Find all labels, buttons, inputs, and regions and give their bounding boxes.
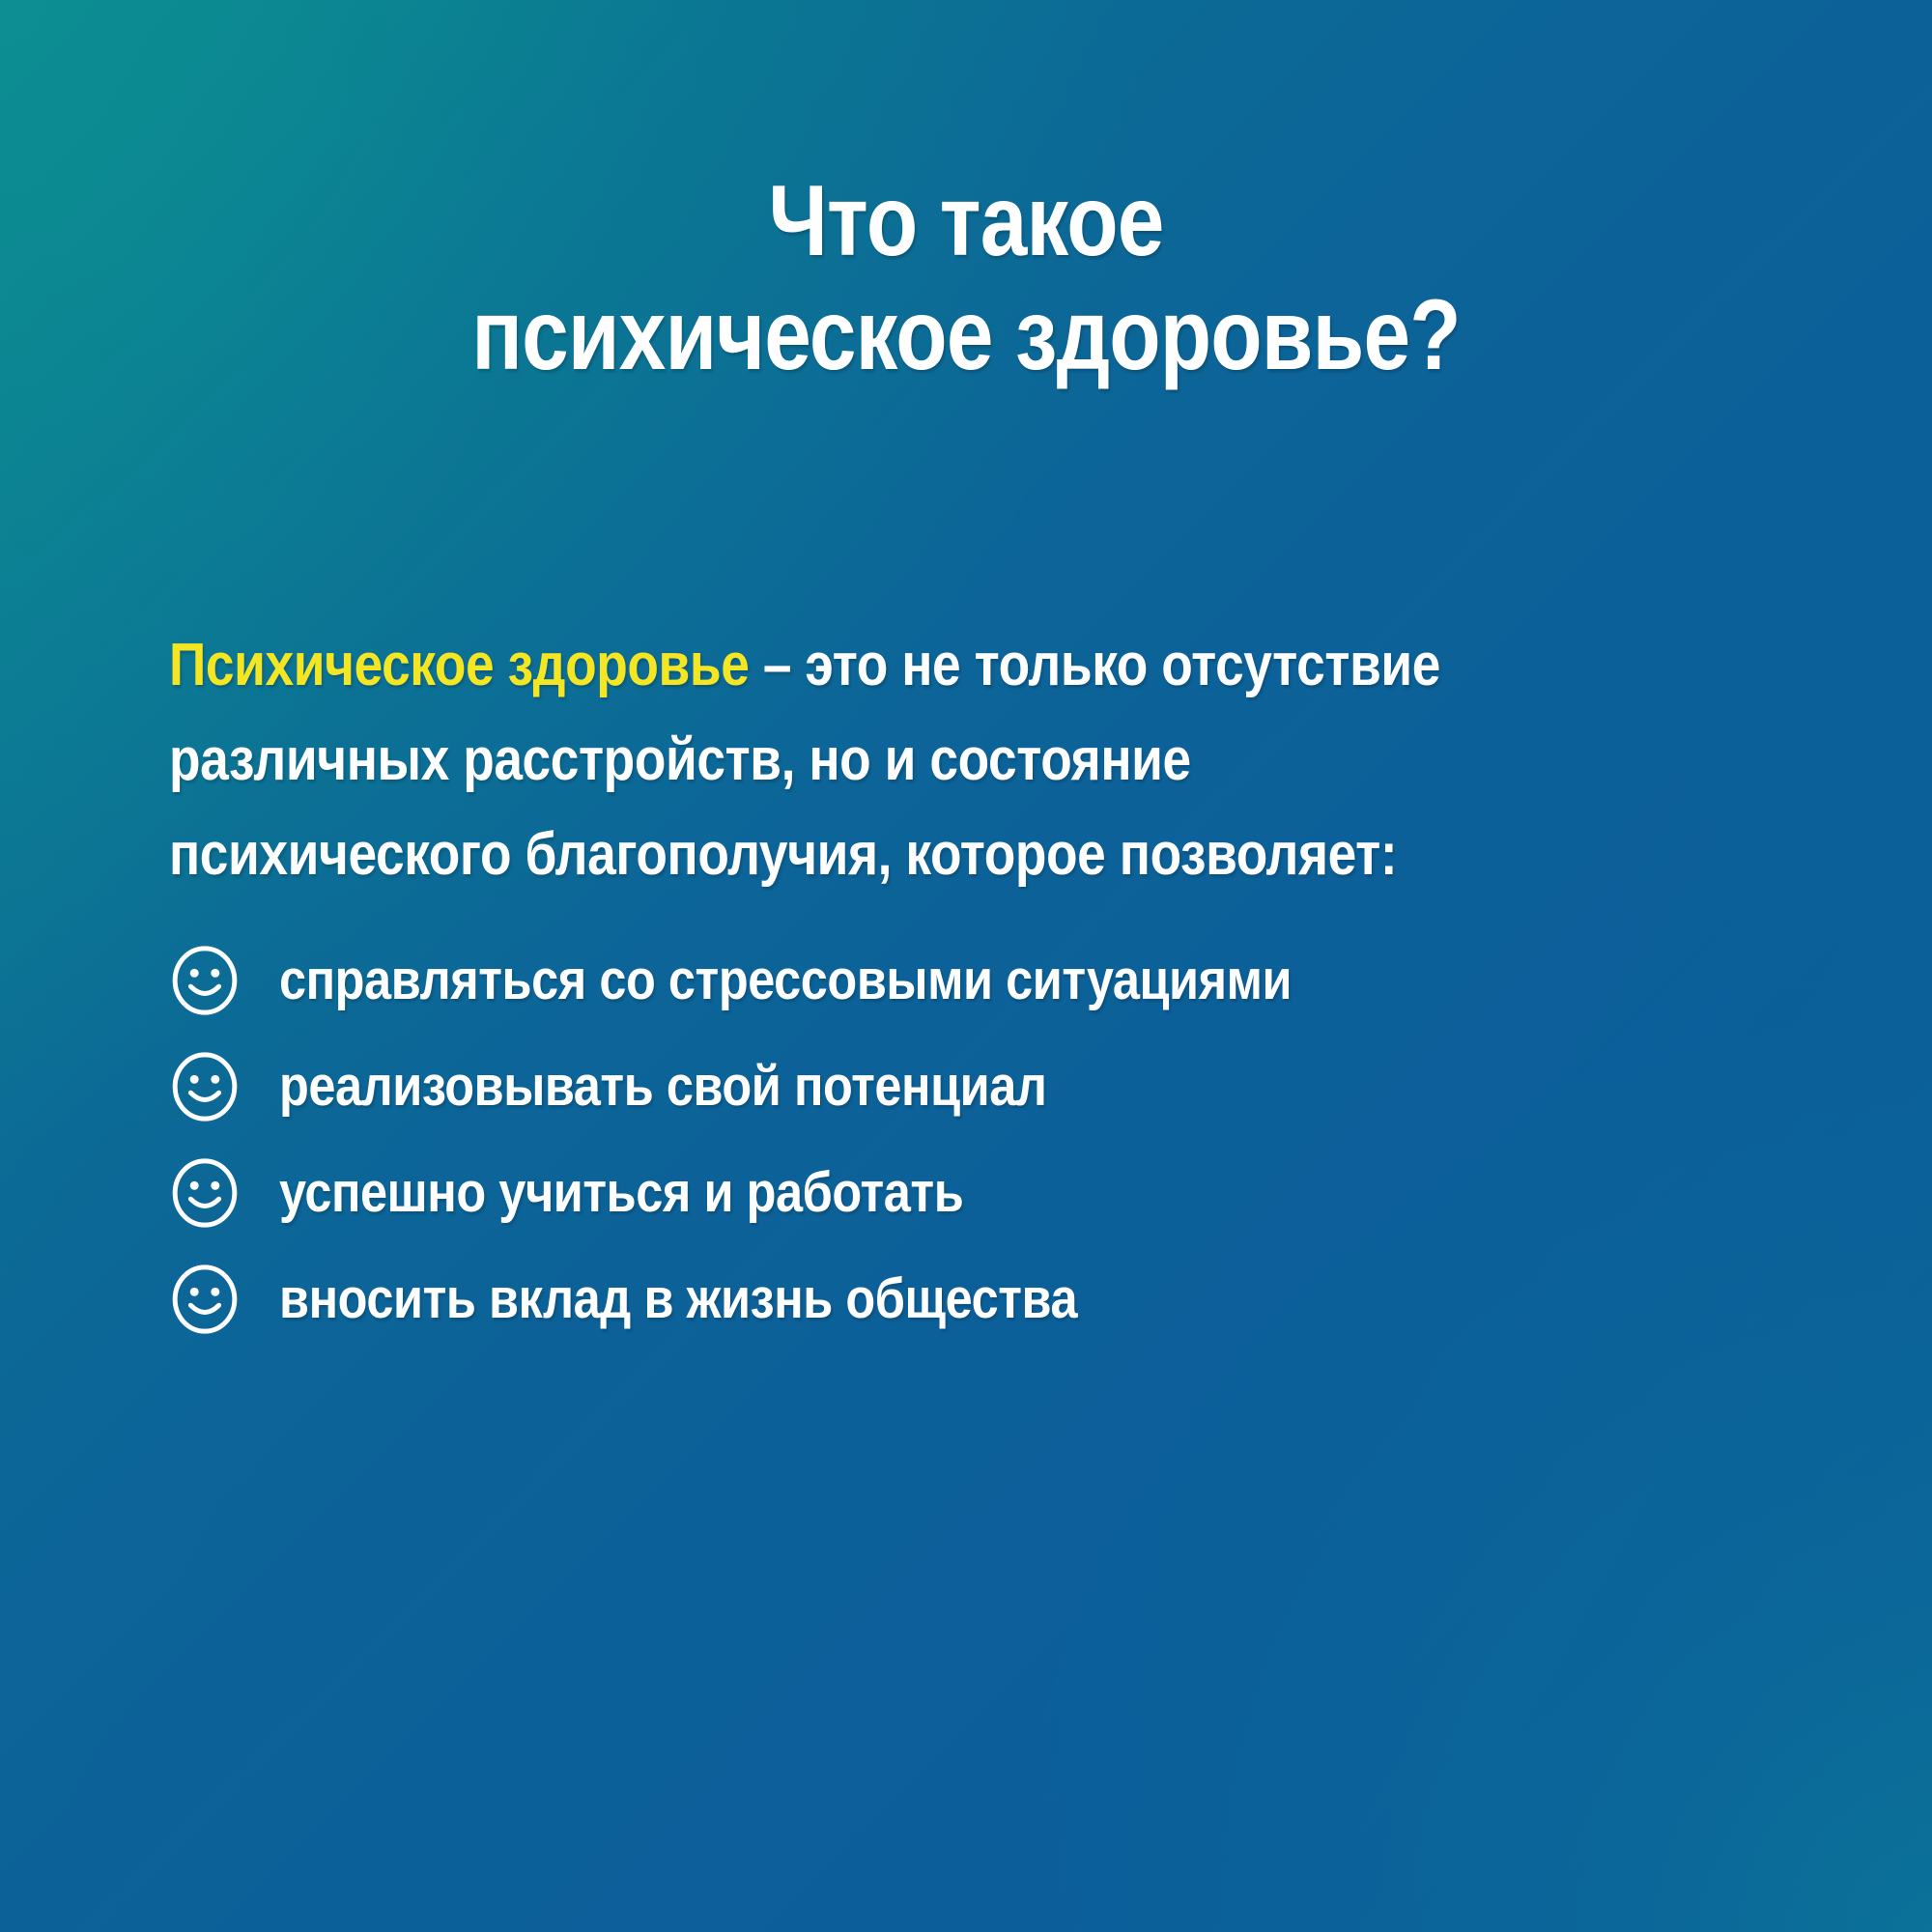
accent-term: Психическое здоровье <box>169 632 749 698</box>
list-item: реализовывать свой потенциал <box>169 1034 1811 1140</box>
paragraph-line-1: Психическое здоровье – это не только отс… <box>169 618 1581 713</box>
list-item-label: вносить вклад в жизнь общества <box>279 1269 1077 1329</box>
paragraph-line-2: различных расстройств, но и состояние <box>169 713 1581 808</box>
title-line-2: психическое здоровье? <box>155 278 1777 392</box>
list-item-label: успешно учиться и работать <box>279 1163 963 1223</box>
smiley-face-icon <box>169 945 241 1016</box>
paragraph-text: Психическое здоровье – это не только отс… <box>169 618 1811 902</box>
smiley-face-icon <box>169 1051 241 1122</box>
title-line-1: Что такое <box>155 164 1777 278</box>
page-title: Что такое психическое здоровье? <box>0 164 1932 392</box>
list-item: справляться со стрессовыми ситуациями <box>169 927 1811 1034</box>
list-item-label: реализовывать свой потенциал <box>279 1057 1047 1117</box>
paragraph-line-3: психического благополучия, которое позво… <box>169 808 1581 902</box>
benefits-list: справляться со стрессовыми ситуациями ре… <box>169 927 1811 1352</box>
slide-content: Что такое психическое здоровье? Психичес… <box>0 0 1932 1932</box>
list-item-label: справляться со стрессовыми ситуациями <box>279 951 1292 1010</box>
smiley-face-icon <box>169 1264 241 1335</box>
paragraph-line-1-rest: – это не только отсутствие <box>749 632 1440 698</box>
list-item: успешно учиться и работать <box>169 1140 1811 1246</box>
smiley-face-icon <box>169 1157 241 1229</box>
definition-paragraph: Психическое здоровье – это не только отс… <box>169 618 1811 902</box>
poster-slide: Что такое психическое здоровье? Психичес… <box>0 0 1932 1932</box>
list-item: вносить вклад в жизнь общества <box>169 1246 1811 1352</box>
